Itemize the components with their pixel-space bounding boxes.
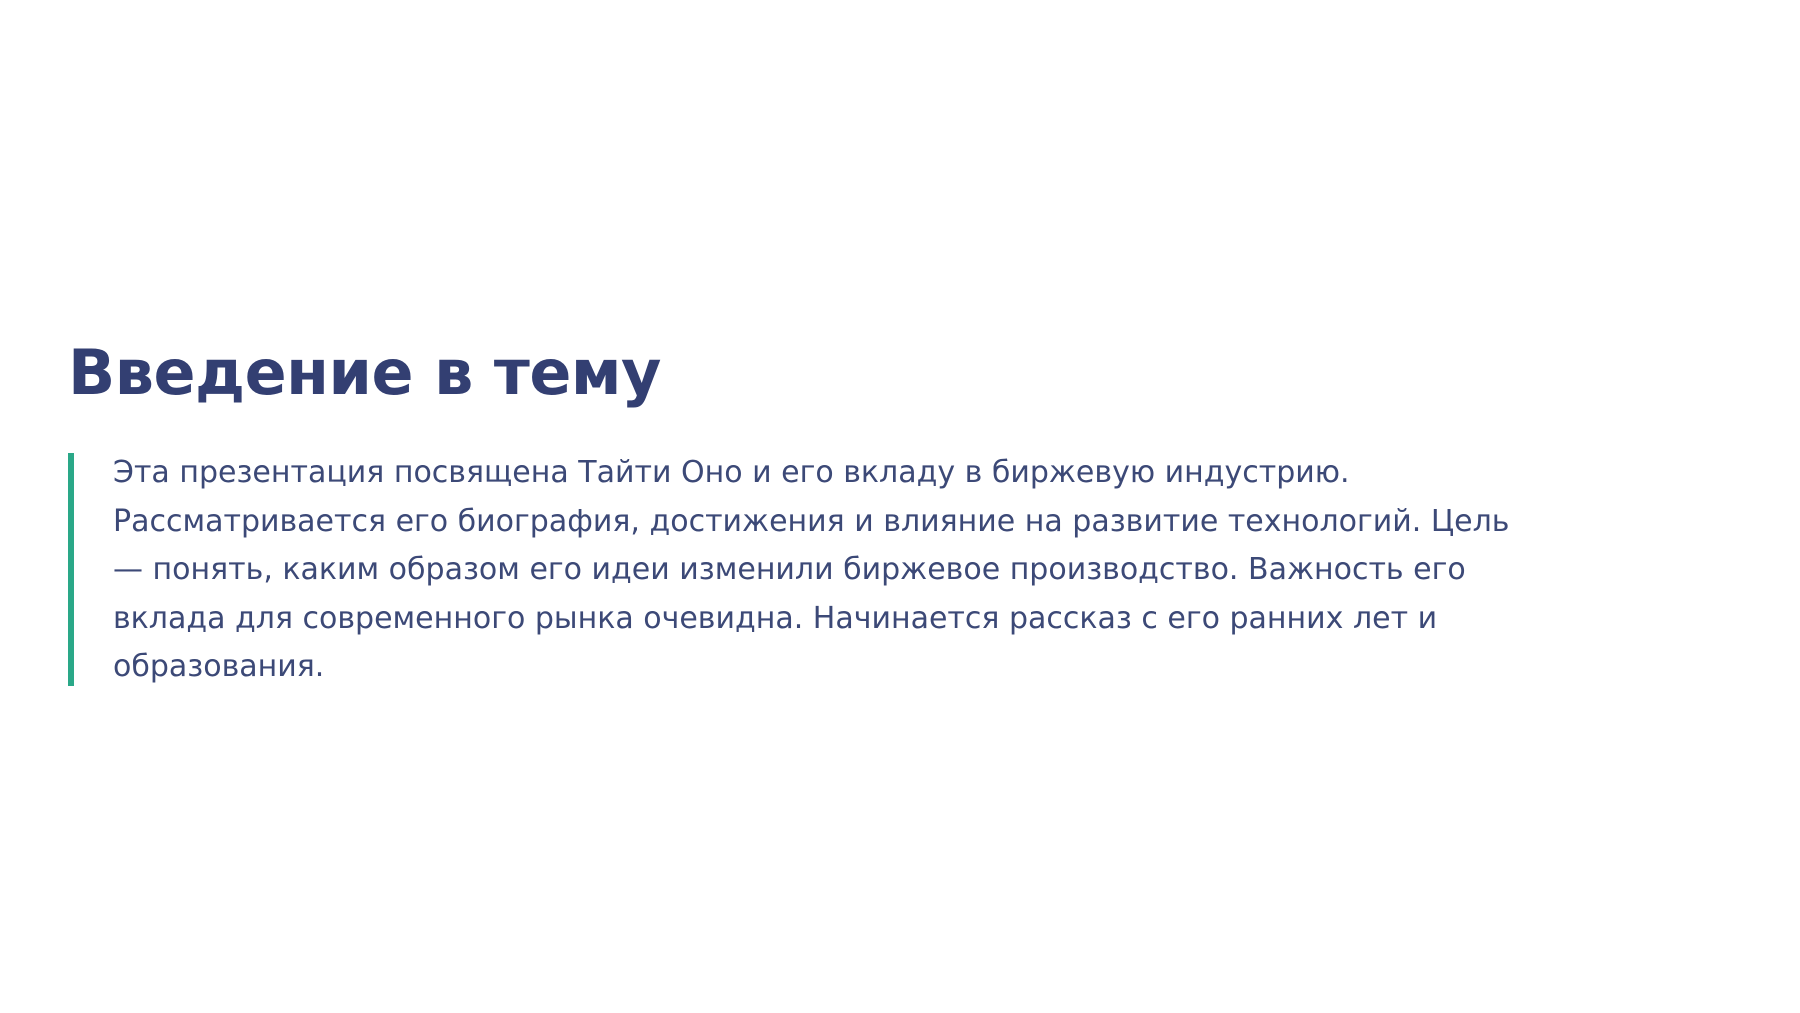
page-title: Введение в тему [68,340,1768,405]
presentation-slide: Введение в тему Эта презентация посвящен… [0,0,1800,1013]
body-paragraph: Эта презентация посвящена Тайти Оно и ег… [113,449,1533,692]
body-block: Эта презентация посвящена Тайти Оно и ег… [68,449,1768,692]
slide-content: Введение в тему Эта презентация посвящен… [68,340,1768,692]
accent-bar [68,453,74,686]
